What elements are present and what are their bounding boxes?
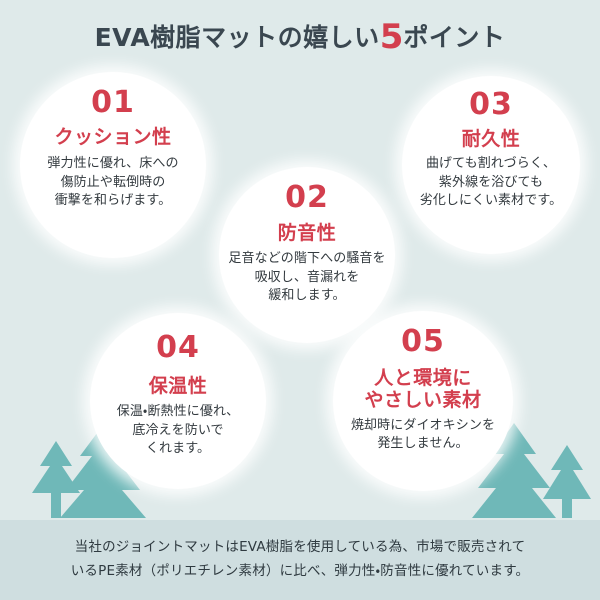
point-body-line: 発生しません。: [351, 435, 495, 453]
title-part-2: ポイント: [403, 23, 505, 52]
point-number: 02: [285, 183, 329, 213]
point-body-line: 底冷えを防いで: [117, 422, 240, 440]
point-body-line: 紫外線を浴びても: [420, 174, 563, 192]
point-body-line: 吸収し、音漏れを: [228, 269, 385, 287]
page-title: EVA樹脂マットの嬉しい5ポイント: [0, 18, 600, 52]
point-body: 弾力性に優れ、床への 傷防止や転倒時の 衝撃を和らげます。: [47, 155, 178, 210]
point-number: 05: [401, 327, 445, 357]
point-body-line: 衝撃を和らげます。: [47, 192, 178, 210]
point-circle-05: 05 人と環境に やさしい素材 焼却時にダイオキシンを 発生しません。: [333, 311, 513, 491]
title-highlight-number: 5: [380, 17, 404, 57]
point-body-line: 足音などの階下への騒音を: [228, 250, 385, 268]
point-heading: クッション性: [54, 126, 171, 148]
point-body-line: 劣化しにくい素材です。: [420, 192, 563, 210]
point-number: 03: [469, 90, 513, 120]
point-number: 04: [156, 333, 200, 363]
point-body-line: 緩和します。: [228, 287, 385, 305]
infographic-poster: EVA樹脂マットの嬉しい5ポイント: [0, 0, 600, 600]
point-heading: 人と環境に やさしい素材: [364, 367, 481, 412]
footer-line-1: 当社のジョイントマットはEVA樹脂を使用している為、市場で販売されて: [75, 536, 526, 560]
point-number: 01: [91, 88, 135, 118]
point-circle-03: 03 耐久性 曲げても割れづらく、 紫外線を浴びても 劣化しにくい素材です。: [402, 76, 580, 254]
footer-caption: 当社のジョイントマットはEVA樹脂を使用している為、市場で販売されて いるPE素…: [0, 520, 600, 600]
point-heading: 保温性: [149, 375, 208, 397]
point-circle-04: 04 保温性 保温・断熱性に優れ、 底冷えを防いで くれます。: [90, 313, 266, 489]
point-body-line: 保温・断熱性に優れ、: [117, 403, 240, 421]
point-heading: 耐久性: [462, 128, 521, 150]
title-part-1: EVA樹脂マットの嬉しい: [95, 23, 380, 52]
point-body: 足音などの階下への騒音を 吸収し、音漏れを 緩和します。: [228, 250, 385, 305]
point-body-line: 傷防止や転倒時の: [47, 174, 178, 192]
point-body-line: 焼却時にダイオキシンを: [351, 417, 495, 435]
point-circle-02: 02 防音性 足音などの階下への騒音を 吸収し、音漏れを 緩和します。: [219, 167, 395, 343]
point-body-line: 弾力性に優れ、床への: [47, 155, 178, 173]
point-heading: 防音性: [278, 222, 337, 244]
point-body-line: 曲げても割れづらく、: [420, 155, 563, 173]
point-body: 曲げても割れづらく、 紫外線を浴びても 劣化しにくい素材です。: [420, 155, 563, 210]
footer-line-2: いるPE素材（ポリエチレン素材）に比べ、弾力性・防音性に優れています。: [71, 560, 530, 584]
point-body: 保温・断熱性に優れ、 底冷えを防いで くれます。: [117, 403, 240, 458]
point-body-line: くれます。: [117, 440, 240, 458]
point-body: 焼却時にダイオキシンを 発生しません。: [351, 417, 495, 454]
point-circle-01: 01 クッション性 弾力性に優れ、床への 傷防止や転倒時の 衝撃を和らげます。: [20, 72, 206, 258]
